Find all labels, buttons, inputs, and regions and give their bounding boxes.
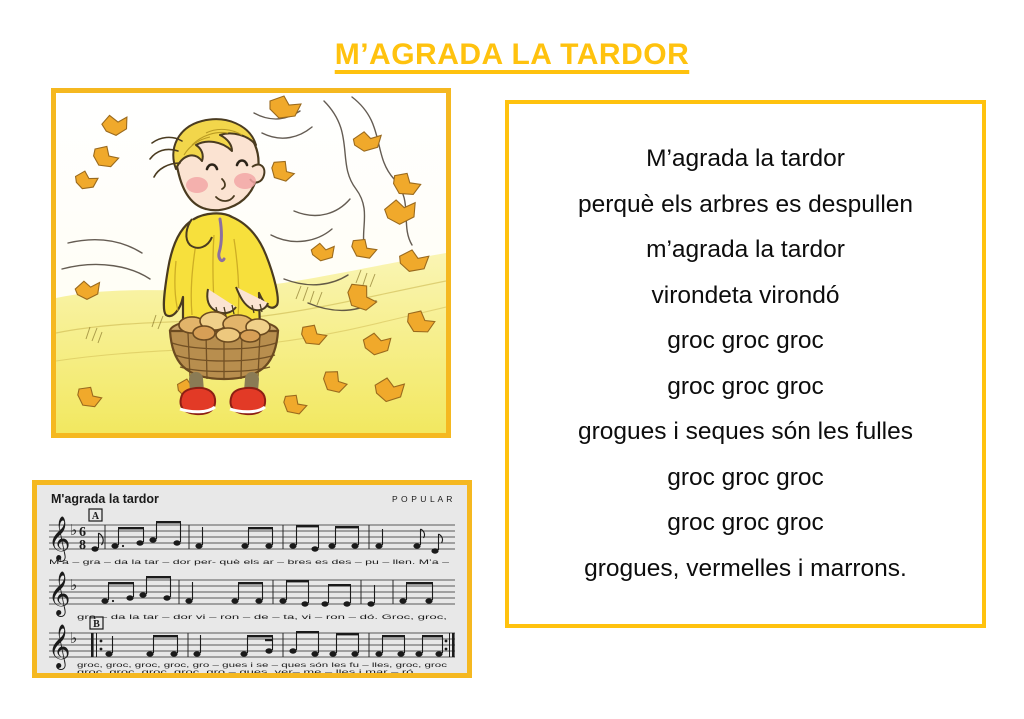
- svg-text:𝄞: 𝄞: [48, 624, 70, 670]
- slide-page: M’AGRADA LA TARDOR: [0, 0, 1024, 719]
- svg-text:♭: ♭: [70, 576, 77, 594]
- page-title: M’AGRADA LA TARDOR: [0, 38, 1024, 72]
- lyric-line: m’agrada la tardor: [519, 228, 972, 274]
- autumn-child-illustration: [56, 93, 446, 433]
- score-staff-lyrics: M’a – gra – da la tar – dor per- què els…: [49, 559, 450, 566]
- svg-text:8: 8: [79, 538, 86, 553]
- sheet-music-box: M'agrada la tardor P O P U L A R 𝄞 ♭ 6 8…: [32, 480, 472, 678]
- lyric-line: groc groc groc: [519, 455, 972, 501]
- svg-text:♭: ♭: [70, 629, 77, 647]
- svg-text:♭: ♭: [70, 521, 77, 539]
- svg-text:𝄞: 𝄞: [48, 571, 70, 617]
- lyrics-box: M’agrada la tardor perquè els arbres es …: [505, 100, 986, 628]
- lyric-line: groc groc groc: [519, 501, 972, 547]
- lyric-line: groc groc groc: [519, 364, 972, 410]
- lyric-line: grogues, vermelles i marrons.: [519, 546, 972, 592]
- lyric-line: grogues i seques són les fulles: [519, 410, 972, 456]
- svg-text:𝄞: 𝄞: [48, 516, 70, 562]
- illustration-frame: [51, 88, 451, 438]
- score-staff-lyrics: gra – da la tar – dor vi – ron – de – ta…: [77, 614, 447, 621]
- score-staff-lyrics-verse2: groc, groc, groc, groc, gro – gues, ver–…: [77, 669, 417, 673]
- score-credit: P O P U L A R: [392, 494, 453, 504]
- sheet-music-notation: M'agrada la tardor P O P U L A R 𝄞 ♭ 6 8…: [37, 485, 467, 673]
- lyric-line: perquè els arbres es despullen: [519, 182, 972, 228]
- lyric-line: groc groc groc: [519, 319, 972, 365]
- score-staff-lyrics-verse1: groc, groc, groc, groc, gro – gues i se …: [77, 662, 448, 669]
- lyric-line: virondeta virondó: [519, 273, 972, 319]
- rehearsal-mark-a: A: [92, 511, 100, 522]
- lyric-line: M’agrada la tardor: [519, 137, 972, 183]
- score-title: M'agrada la tardor: [51, 492, 159, 506]
- rehearsal-mark-b: B: [93, 619, 100, 630]
